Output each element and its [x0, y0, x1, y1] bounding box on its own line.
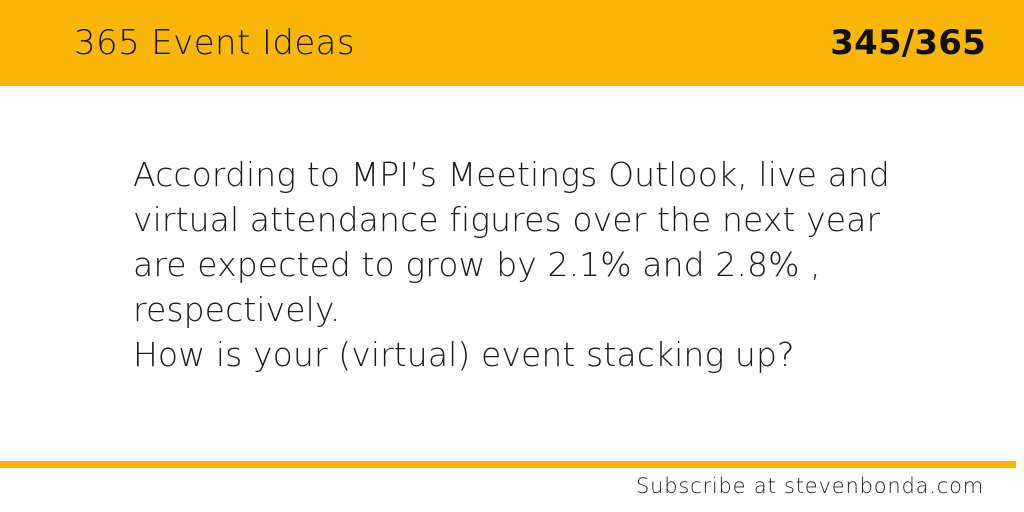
body-line-3: are expected to grow by 2.1% and 2.8% ,: [133, 242, 983, 287]
body-line-5: How is your (virtual) event stacking up?: [133, 332, 983, 377]
subscribe-note: Subscribe at stevenbonda.com: [636, 474, 984, 499]
day-counter-badge: 345/365: [830, 26, 986, 60]
body-copy: According to MPI’s Meetings Outlook, liv…: [133, 152, 983, 377]
body-line-1: According to MPI’s Meetings Outlook, liv…: [133, 152, 983, 197]
page-title: 365 Event Ideas: [74, 26, 355, 60]
header-band: 365 Event Ideas 345/365: [0, 0, 1024, 86]
slide-canvas: 365 Event Ideas 345/365 According to MPI…: [0, 0, 1024, 512]
body-line-2: virtual attendance figures over the next…: [133, 197, 983, 242]
body-line-4: respectively.: [133, 287, 983, 332]
footer-divider-rule: [0, 461, 1016, 468]
